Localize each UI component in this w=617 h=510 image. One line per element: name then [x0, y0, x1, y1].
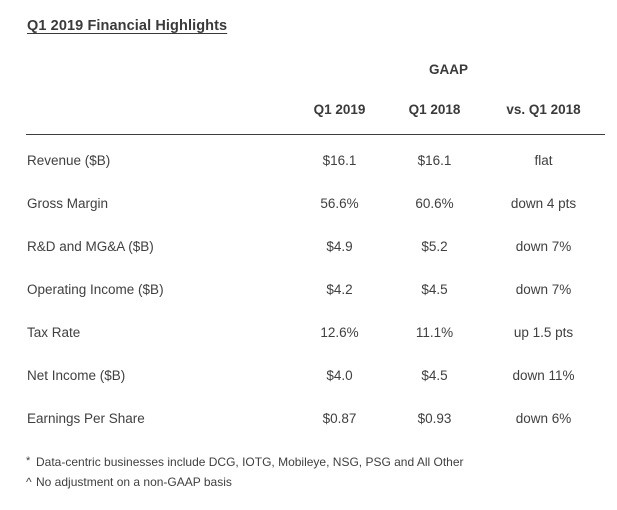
footnote-text: No adjustment on a non-GAAP basis — [36, 472, 232, 492]
group-header-spacer — [26, 56, 292, 82]
footnote-text: Data-centric businesses include DCG, IOT… — [36, 452, 464, 472]
footnote-item: *Data-centric businesses include DCG, IO… — [26, 452, 606, 472]
row-value-change: flat — [482, 135, 605, 183]
row-label: Gross Margin — [26, 182, 292, 225]
column-header-vs-q1-2018: vs. Q1 2018 — [482, 82, 605, 135]
table-row: R&D and MG&A ($B) $4.9 $5.2 down 7% — [26, 225, 605, 268]
row-value-change: down 4 pts — [482, 182, 605, 225]
row-label: Net Income ($B) — [26, 354, 292, 397]
row-value-prior: $16.1 — [387, 135, 482, 183]
table-row: Tax Rate 12.6% 11.1% up 1.5 pts — [26, 311, 605, 354]
column-header-row: Q1 2019 Q1 2018 vs. Q1 2018 — [26, 82, 605, 135]
page-title: Q1 2019 Financial Highlights — [27, 18, 227, 34]
group-header-row: GAAP — [26, 56, 605, 82]
table-row: Revenue ($B) $16.1 $16.1 flat — [26, 135, 605, 183]
row-value-current: $16.1 — [292, 135, 387, 183]
column-header-q1-2018: Q1 2018 — [387, 82, 482, 135]
row-value-change: down 7% — [482, 225, 605, 268]
financial-highlights-table: GAAP Q1 2019 Q1 2018 vs. Q1 2018 Revenue… — [26, 56, 605, 440]
row-value-change: down 11% — [482, 354, 605, 397]
row-value-prior: $0.93 — [387, 397, 482, 440]
row-value-prior: $5.2 — [387, 225, 482, 268]
table-row: Earnings Per Share $0.87 $0.93 down 6% — [26, 397, 605, 440]
row-value-current: $4.0 — [292, 354, 387, 397]
row-label: Earnings Per Share — [26, 397, 292, 440]
row-value-change: down 6% — [482, 397, 605, 440]
table-header: GAAP Q1 2019 Q1 2018 vs. Q1 2018 — [26, 56, 605, 135]
column-header-label — [26, 82, 292, 135]
row-value-current: 12.6% — [292, 311, 387, 354]
row-label: Tax Rate — [26, 311, 292, 354]
row-value-current: $4.2 — [292, 268, 387, 311]
row-value-prior: 11.1% — [387, 311, 482, 354]
row-label: R&D and MG&A ($B) — [26, 225, 292, 268]
row-value-prior: $4.5 — [387, 268, 482, 311]
financial-highlights-page: Q1 2019 Financial Highlights GAAP Q1 201… — [0, 0, 617, 510]
column-header-q1-2019: Q1 2019 — [292, 82, 387, 135]
footnote-marker-asterisk: * — [26, 451, 36, 471]
table-row: Net Income ($B) $4.0 $4.5 down 11% — [26, 354, 605, 397]
footnote-marker-caret: ^ — [26, 472, 36, 492]
row-value-change: up 1.5 pts — [482, 311, 605, 354]
footnotes: *Data-centric businesses include DCG, IO… — [26, 452, 606, 492]
row-label: Revenue ($B) — [26, 135, 292, 183]
row-value-current: $0.87 — [292, 397, 387, 440]
row-value-prior: 60.6% — [387, 182, 482, 225]
row-value-change: down 7% — [482, 268, 605, 311]
table-row: Operating Income ($B) $4.2 $4.5 down 7% — [26, 268, 605, 311]
row-value-current: $4.9 — [292, 225, 387, 268]
row-value-prior: $4.5 — [387, 354, 482, 397]
table-body: Revenue ($B) $16.1 $16.1 flat Gross Marg… — [26, 135, 605, 441]
row-label: Operating Income ($B) — [26, 268, 292, 311]
row-value-current: 56.6% — [292, 182, 387, 225]
footnote-item: ^No adjustment on a non-GAAP basis — [26, 472, 606, 492]
group-header-gaap: GAAP — [292, 56, 605, 82]
table-row: Gross Margin 56.6% 60.6% down 4 pts — [26, 182, 605, 225]
